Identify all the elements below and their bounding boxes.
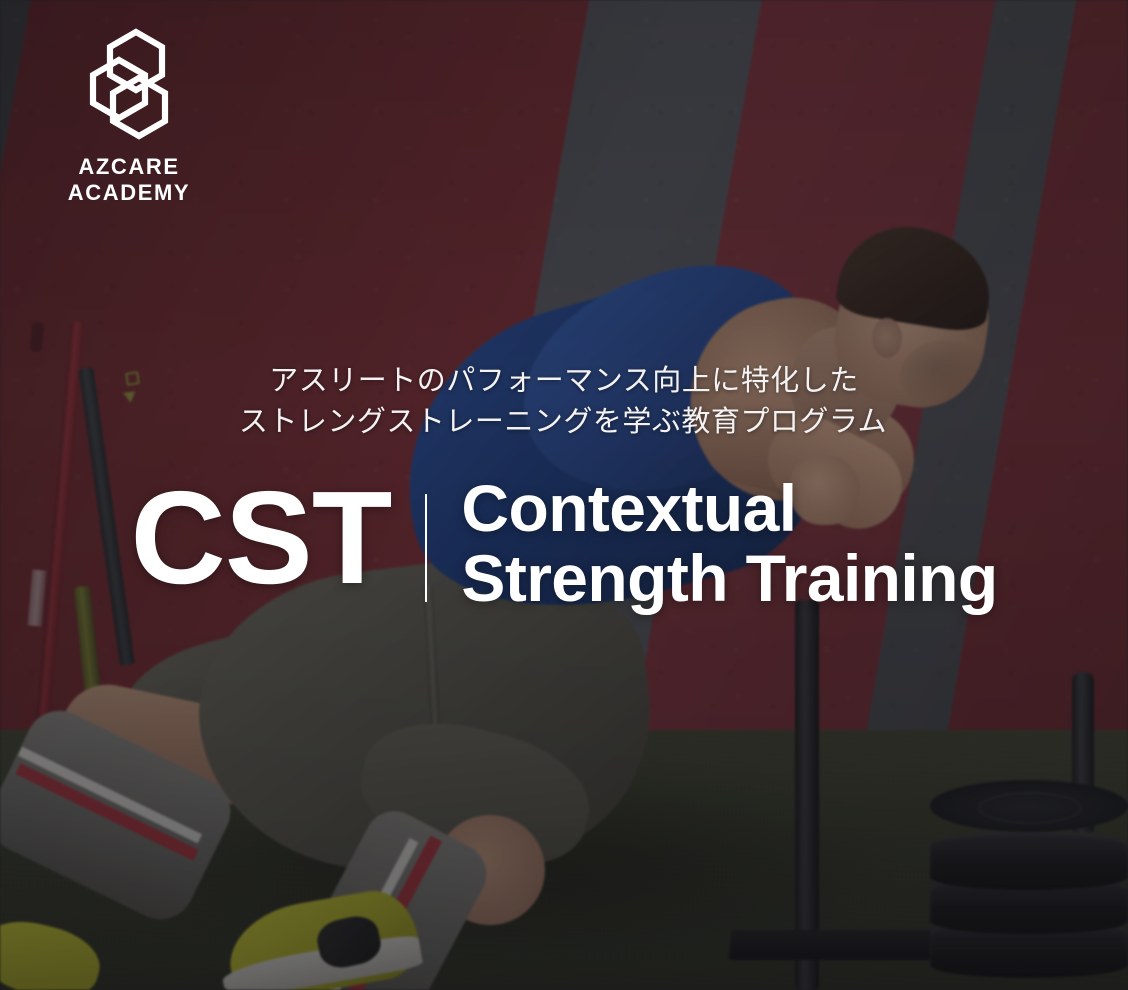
brand-name-line1: AZCARE: [44, 154, 214, 180]
program-name-line1: Contextual: [461, 474, 997, 544]
program-name-line2: Strength Training: [461, 544, 997, 614]
hexagon-trio-icon: [86, 28, 172, 140]
brand-name: AZCARE ACADEMY: [44, 154, 214, 205]
program-full-name: Contextual Strength Training: [461, 474, 997, 614]
hero-banner: AZCARE ACADEMY アスリートのパフォーマンス向上に特化した ストレン…: [0, 0, 1128, 990]
hero-content: AZCARE ACADEMY アスリートのパフォーマンス向上に特化した ストレン…: [0, 0, 1128, 990]
hero-tagline: アスリートのパフォーマンス向上に特化した ストレングストレーニングを学ぶ教育プロ…: [0, 360, 1128, 442]
brand-logo[interactable]: AZCARE ACADEMY: [44, 28, 214, 205]
title-divider: [425, 494, 427, 602]
brand-name-line2: ACADEMY: [44, 180, 214, 206]
program-abbreviation: CST: [130, 476, 391, 600]
tagline-line-2: ストレングストレーニングを学ぶ教育プログラム: [0, 401, 1128, 442]
hero-title: CST Contextual Strength Training: [0, 474, 1128, 614]
tagline-line-1: アスリートのパフォーマンス向上に特化した: [0, 360, 1128, 401]
